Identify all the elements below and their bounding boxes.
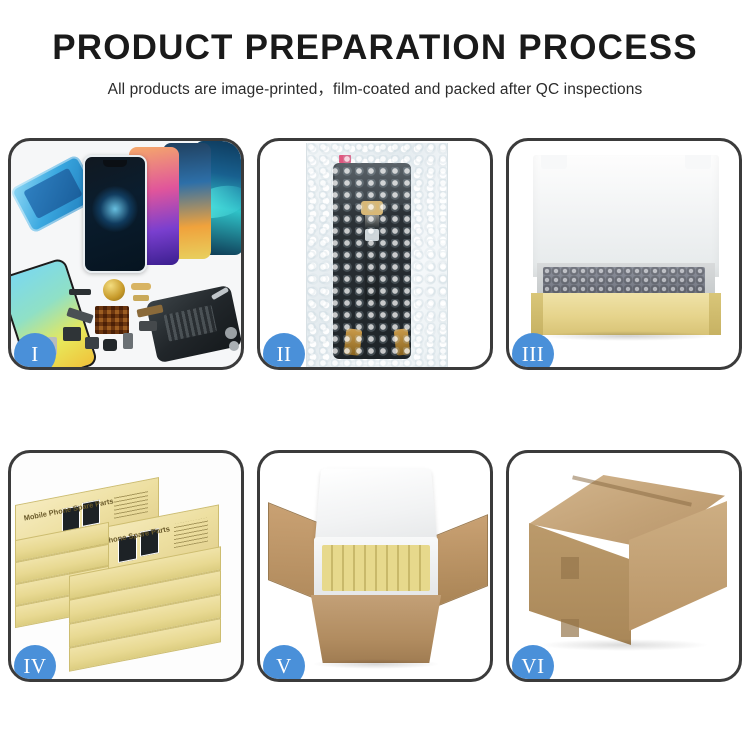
spare-part-l bbox=[225, 327, 237, 339]
step-badge-3: III bbox=[512, 333, 554, 370]
phone-chassis bbox=[145, 285, 241, 364]
step-badge-1: I bbox=[14, 333, 56, 370]
box-spec-lines-front bbox=[174, 518, 208, 549]
step-badge-2: II bbox=[263, 333, 305, 370]
spare-part-g bbox=[103, 339, 117, 351]
page-subtitle: All products are image-printed，film-coat… bbox=[0, 77, 750, 99]
phone-front-glass bbox=[83, 155, 147, 273]
carton-tab-lower bbox=[561, 619, 579, 637]
lcd-screen-top bbox=[335, 163, 411, 205]
page-header: PRODUCT PREPARATION PROCESS All products… bbox=[0, 0, 750, 99]
charging-coil-icon bbox=[103, 279, 125, 301]
carton-front-panel bbox=[302, 595, 450, 663]
spare-part-j bbox=[139, 321, 157, 331]
carton-drop-shadow bbox=[312, 659, 440, 669]
stacked-boxes-photo: Mobile Phone Spare Parts Mobile Phone Sp… bbox=[11, 453, 241, 679]
spare-part-c bbox=[133, 295, 149, 301]
process-step-panel-6[interactable]: VI bbox=[506, 450, 742, 682]
page-title: PRODUCT PREPARATION PROCESS bbox=[0, 30, 750, 67]
process-step-panel-5[interactable]: V bbox=[257, 450, 493, 682]
foam-box-lid bbox=[315, 468, 438, 543]
box-lid bbox=[533, 155, 719, 277]
spare-part-f bbox=[85, 337, 99, 349]
spare-part-e bbox=[63, 327, 81, 341]
process-step-panel-1[interactable]: I bbox=[8, 138, 244, 370]
spare-part-b bbox=[131, 283, 151, 290]
sealed-carton-photo bbox=[509, 453, 739, 679]
open-box-with-foam-photo bbox=[509, 141, 739, 367]
box-front-panel bbox=[531, 293, 721, 335]
flex-cable-pad bbox=[361, 201, 383, 215]
spare-part-a bbox=[69, 289, 91, 295]
process-step-panel-2[interactable]: II bbox=[257, 138, 493, 370]
phone-parts-photo bbox=[11, 141, 241, 367]
carton-tab-upper bbox=[561, 557, 579, 579]
packed-retail-boxes bbox=[322, 545, 430, 591]
process-step-panel-4[interactable]: Mobile Phone Spare Parts Mobile Phone Sp… bbox=[8, 450, 244, 682]
process-step-panel-3[interactable]: III bbox=[506, 138, 742, 370]
bag-label-sticker bbox=[339, 155, 351, 163]
connector-left bbox=[344, 328, 363, 356]
step-badge-4: IV bbox=[14, 645, 56, 682]
flex-cable bbox=[365, 203, 379, 303]
chip-grid-icon bbox=[95, 306, 129, 334]
bubble-wrapped-screen-photo bbox=[260, 141, 490, 367]
box-spec-lines-rear bbox=[114, 490, 148, 519]
spare-part-h bbox=[123, 333, 133, 349]
process-step-grid: I II III bbox=[8, 138, 742, 682]
step-badge-5: V bbox=[263, 645, 305, 682]
step-badge-6: VI bbox=[512, 645, 554, 682]
carton-with-foam-photo bbox=[260, 453, 490, 679]
box-drop-shadow bbox=[539, 331, 715, 341]
bubble-wrap-bag bbox=[306, 143, 448, 367]
spare-part-m bbox=[229, 341, 239, 351]
connector-right bbox=[394, 328, 411, 355]
carton-drop-shadow bbox=[539, 639, 709, 651]
flex-cable-chip bbox=[365, 229, 379, 241]
